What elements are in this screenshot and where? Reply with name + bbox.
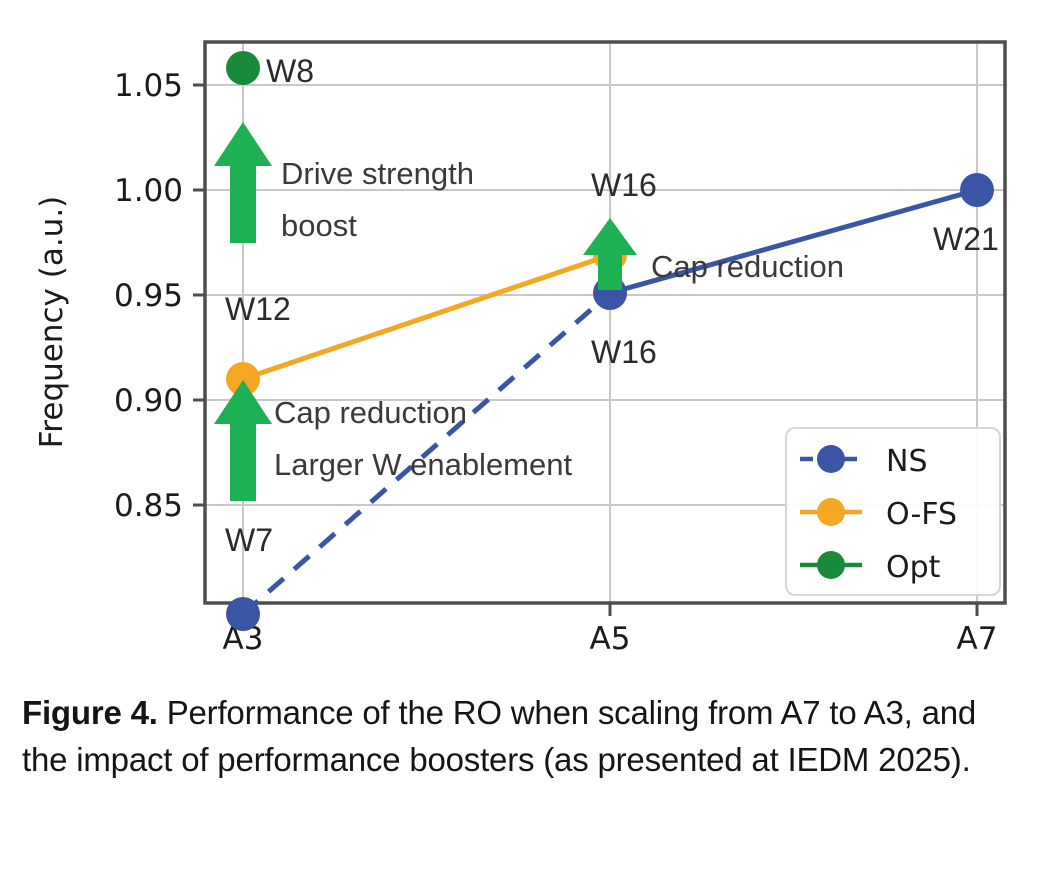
point-label-w7: W7	[225, 522, 273, 558]
series-opt	[226, 51, 260, 85]
figure-caption-text: Performance of the RO when scaling from …	[22, 694, 976, 778]
point-label-w8: W8	[266, 53, 314, 89]
data-point-ns-a3	[226, 597, 260, 631]
x-axis-ticks	[243, 603, 977, 616]
chart-legend: NS O-FS Opt	[786, 428, 1000, 595]
figure-caption: Figure 4. Performance of the RO when sca…	[22, 690, 1022, 784]
chart-svg: 1.05 1.00 0.95 0.90 0.85 A3 A5 A7 Freque…	[0, 0, 1044, 660]
legend-label-ns: NS	[886, 444, 927, 479]
y-tick-label-1-00: 1.00	[114, 173, 183, 209]
figure-container: 1.05 1.00 0.95 0.90 0.85 A3 A5 A7 Freque…	[0, 0, 1044, 878]
point-label-w12: W12	[225, 291, 291, 327]
legend-label-ofs: O-FS	[886, 497, 957, 532]
y-tick-label-1-05: 1.05	[114, 68, 183, 104]
data-point-opt-a3	[226, 51, 260, 85]
y-tick-label-0-90: 0.90	[114, 383, 183, 419]
legend-label-opt: Opt	[886, 550, 941, 585]
point-label-w21: W21	[933, 221, 999, 257]
legend-marker-ofs	[817, 498, 845, 526]
y-tick-label-0-85: 0.85	[114, 488, 183, 524]
annotation-drive-strength-line2: boost	[281, 208, 357, 243]
y-axis-ticks	[193, 85, 205, 505]
legend-marker-ns	[817, 445, 845, 473]
annotation-cap-reduction-a5: Cap reduction	[651, 249, 844, 284]
annotation-drive-strength-line1: Drive strength	[281, 156, 474, 191]
legend-marker-opt	[817, 551, 845, 579]
x-tick-label-a5: A5	[590, 621, 631, 657]
y-axis-title: Frequency (a.u.)	[34, 196, 70, 449]
annotation-cap-reduction-line1: Cap reduction	[274, 395, 467, 430]
y-tick-label-0-95: 0.95	[114, 278, 183, 314]
chart-plot: 1.05 1.00 0.95 0.90 0.85 A3 A5 A7 Freque…	[0, 0, 1044, 660]
data-point-ns-a7	[960, 173, 994, 207]
point-label-w16-ns: W16	[591, 334, 657, 370]
x-tick-label-a7: A7	[957, 621, 998, 657]
annotation-larger-w-line1: Larger W enablement	[274, 447, 572, 482]
point-label-w16-ofs: W16	[591, 167, 657, 203]
figure-caption-label: Figure 4.	[22, 694, 158, 731]
